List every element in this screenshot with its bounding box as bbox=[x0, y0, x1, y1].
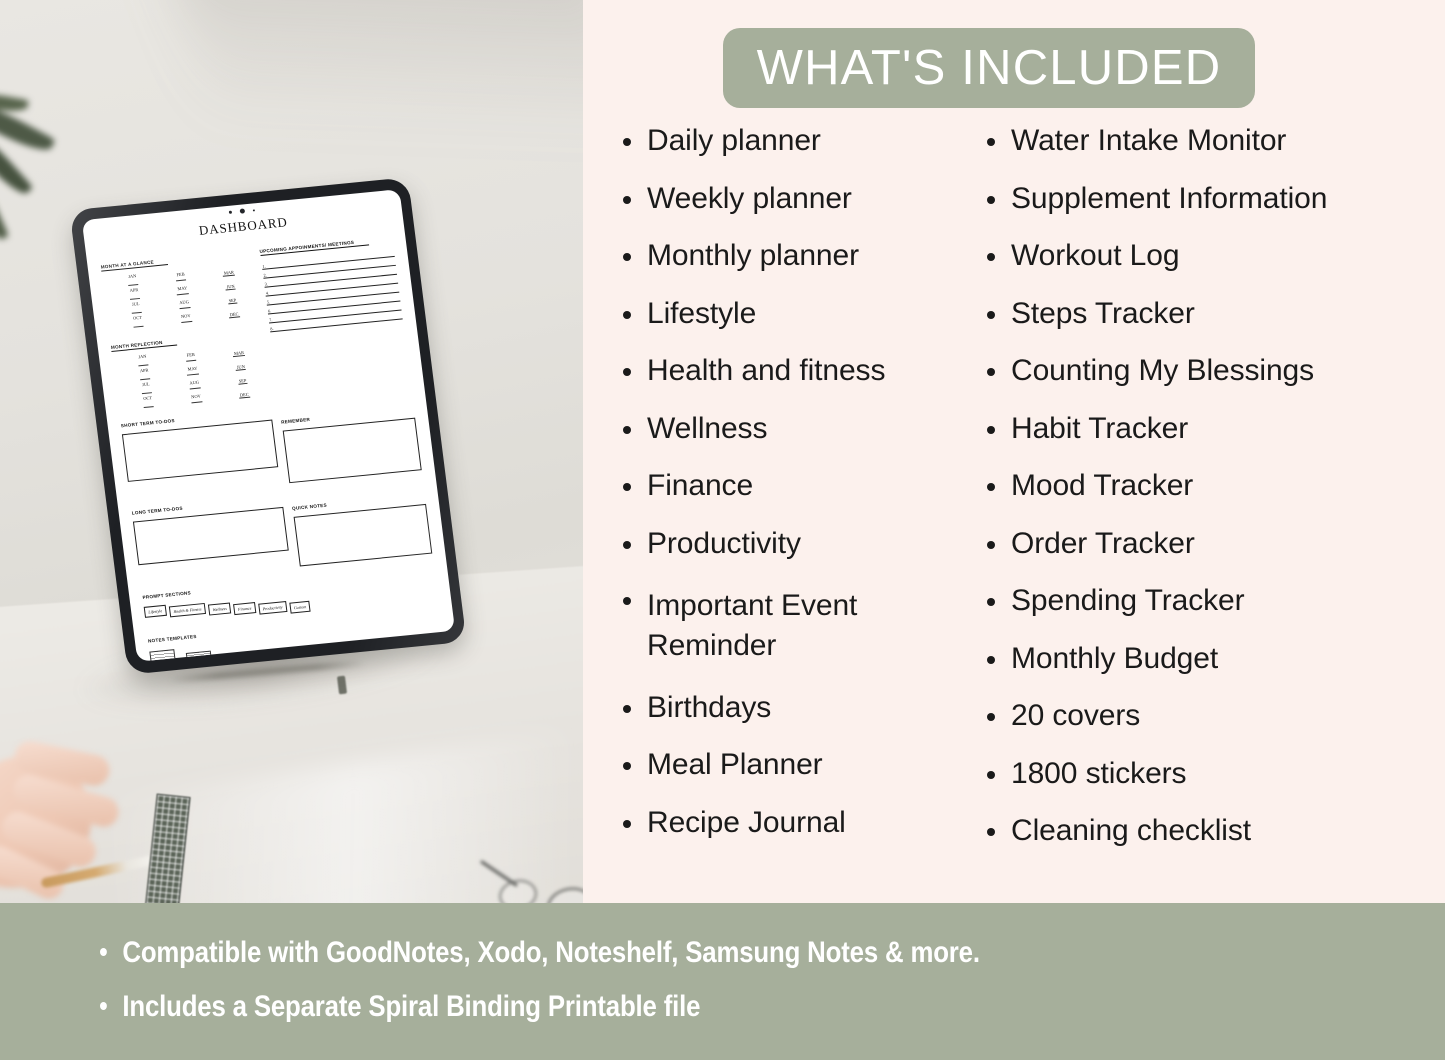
month-cell: SEP bbox=[227, 297, 237, 304]
quick-notes-label: QUICK NOTES bbox=[292, 503, 328, 512]
list-item: Counting My Blessings bbox=[985, 356, 1445, 386]
quick-notes-box bbox=[293, 504, 432, 567]
list-item: Important Event Reminder bbox=[621, 586, 985, 665]
long-term-todos-box bbox=[133, 507, 288, 565]
month-cell: MAR bbox=[223, 270, 236, 277]
content-panel: WHAT'S INCLUDED Daily planner Weekly pla… bbox=[583, 0, 1445, 903]
list-item: Birthdays bbox=[621, 693, 985, 723]
list-item: Order Tracker bbox=[985, 529, 1445, 559]
list-item: Recipe Journal bbox=[621, 808, 985, 838]
list-item: Finance bbox=[621, 471, 985, 501]
month-cell: JUL bbox=[131, 301, 142, 314]
list-item: Lifestyle bbox=[621, 299, 985, 329]
list-item: Meal Planner bbox=[621, 750, 985, 780]
list-item: Productivity bbox=[621, 529, 985, 559]
list-item: Supplement Information bbox=[985, 184, 1445, 214]
month-cell: JUL bbox=[141, 381, 152, 394]
template-dotted bbox=[222, 652, 248, 661]
month-reflection-grid: JAN FEB MAR APR MAY JUN JUL AUG SEP OC bbox=[118, 342, 269, 410]
month-cell: AUG bbox=[178, 299, 191, 309]
list-item: Daily planner bbox=[621, 126, 985, 156]
tablet-device: DASHBOARD MONTH AT A GLANCE JAN FEB MAR … bbox=[69, 177, 466, 675]
month-cell: FEB bbox=[185, 352, 196, 362]
list-item: Monthly Budget bbox=[985, 644, 1445, 674]
month-cell: JUN bbox=[235, 364, 246, 371]
listing-image: DASHBOARD MONTH AT A GLANCE JAN FEB MAR … bbox=[0, 0, 1445, 1060]
month-cell: JAN bbox=[127, 273, 139, 286]
list-item: Mood Tracker bbox=[985, 471, 1445, 501]
prompt-chip: Finance bbox=[233, 602, 256, 615]
remember-label: REMEMBER bbox=[281, 417, 311, 426]
list-item: Water Intake Monitor bbox=[985, 126, 1445, 156]
month-cell: MAY bbox=[186, 366, 199, 376]
month-cell: MAY bbox=[176, 285, 189, 295]
month-cell: MAR bbox=[233, 350, 246, 357]
month-cell: FEB bbox=[175, 271, 186, 281]
prompt-chip: Health & Fitness bbox=[169, 603, 206, 618]
month-at-a-glance-grid: JAN FEB MAR APR MAY JUN JUL AUG SEP OCT bbox=[108, 262, 259, 330]
month-reflection-label: MONTH REFLECTION bbox=[111, 339, 178, 352]
long-term-todos-label: LONG TERM TO-DOS bbox=[132, 506, 184, 517]
month-cell: DEC bbox=[239, 392, 251, 399]
month-cell: NOV bbox=[190, 393, 203, 403]
template-narrow-ruled bbox=[186, 651, 214, 662]
feature-list-left-column: Daily planner Weekly planner Monthly pla… bbox=[583, 126, 985, 874]
month-cell: OCT bbox=[132, 315, 144, 328]
list-item: Workout Log bbox=[985, 241, 1445, 271]
feature-lists: Daily planner Weekly planner Monthly pla… bbox=[583, 126, 1445, 874]
prompt-chip: Wellness bbox=[208, 602, 231, 615]
short-term-todos-box bbox=[122, 420, 278, 482]
month-cell: JAN bbox=[137, 353, 149, 366]
footer-note: Includes a Separate Spiral Binding Print… bbox=[100, 990, 1257, 1024]
month-cell: JUN bbox=[225, 284, 236, 291]
prompt-chip: Custom bbox=[289, 601, 311, 614]
list-item: Cleaning checklist bbox=[985, 816, 1445, 846]
appointments-lines: 1. 2. 3. 4. 5. 6. 7. 8. bbox=[261, 248, 403, 332]
month-at-a-glance-label: MONTH AT A GLANCE bbox=[100, 258, 168, 272]
remember-box bbox=[282, 418, 422, 484]
template-wide-ruled bbox=[149, 649, 177, 662]
month-cell: OCT bbox=[142, 395, 154, 408]
footer-note: Compatible with GoodNotes, Xodo, Noteshe… bbox=[100, 936, 1257, 970]
prompt-sections-label: PROMPT SECTIONS bbox=[142, 590, 191, 601]
feature-list-right-column: Water Intake Monitor Supplement Informat… bbox=[985, 126, 1445, 874]
tablet-screen: DASHBOARD MONTH AT A GLANCE JAN FEB MAR … bbox=[82, 189, 455, 662]
product-photo: DASHBOARD MONTH AT A GLANCE JAN FEB MAR … bbox=[0, 0, 583, 903]
list-item: Wellness bbox=[621, 414, 985, 444]
list-item: Health and fitness bbox=[621, 356, 985, 386]
list-item: Steps Tracker bbox=[985, 299, 1445, 329]
month-cell: SEP bbox=[237, 378, 247, 385]
prompt-chip: Lifestyle bbox=[144, 605, 167, 618]
short-term-todos-label: SHORT TERM TO-DOS bbox=[121, 418, 176, 429]
list-item: Habit Tracker bbox=[985, 414, 1445, 444]
eyeglasses bbox=[495, 878, 583, 903]
list-item: 1800 stickers bbox=[985, 759, 1445, 789]
list-item: Weekly planner bbox=[621, 184, 985, 214]
notes-templates-label: NOTES TEMPLATES bbox=[148, 634, 197, 645]
list-item: 20 covers bbox=[985, 701, 1445, 731]
whats-included-title: WHAT'S INCLUDED bbox=[757, 40, 1222, 96]
list-item: Monthly planner bbox=[621, 241, 985, 271]
month-cell: AUG bbox=[188, 379, 201, 389]
prompt-chip: Productivity bbox=[258, 601, 287, 615]
dashboard-page: DASHBOARD MONTH AT A GLANCE JAN FEB MAR … bbox=[82, 189, 455, 662]
month-cell: APR bbox=[139, 367, 151, 380]
whats-included-banner: WHAT'S INCLUDED bbox=[723, 28, 1255, 108]
month-cell: NOV bbox=[180, 313, 193, 323]
list-item: Spending Tracker bbox=[985, 586, 1445, 616]
month-cell: APR bbox=[128, 287, 140, 300]
month-cell: DEC bbox=[228, 311, 240, 318]
compatibility-banner: Compatible with GoodNotes, Xodo, Noteshe… bbox=[0, 903, 1445, 1060]
